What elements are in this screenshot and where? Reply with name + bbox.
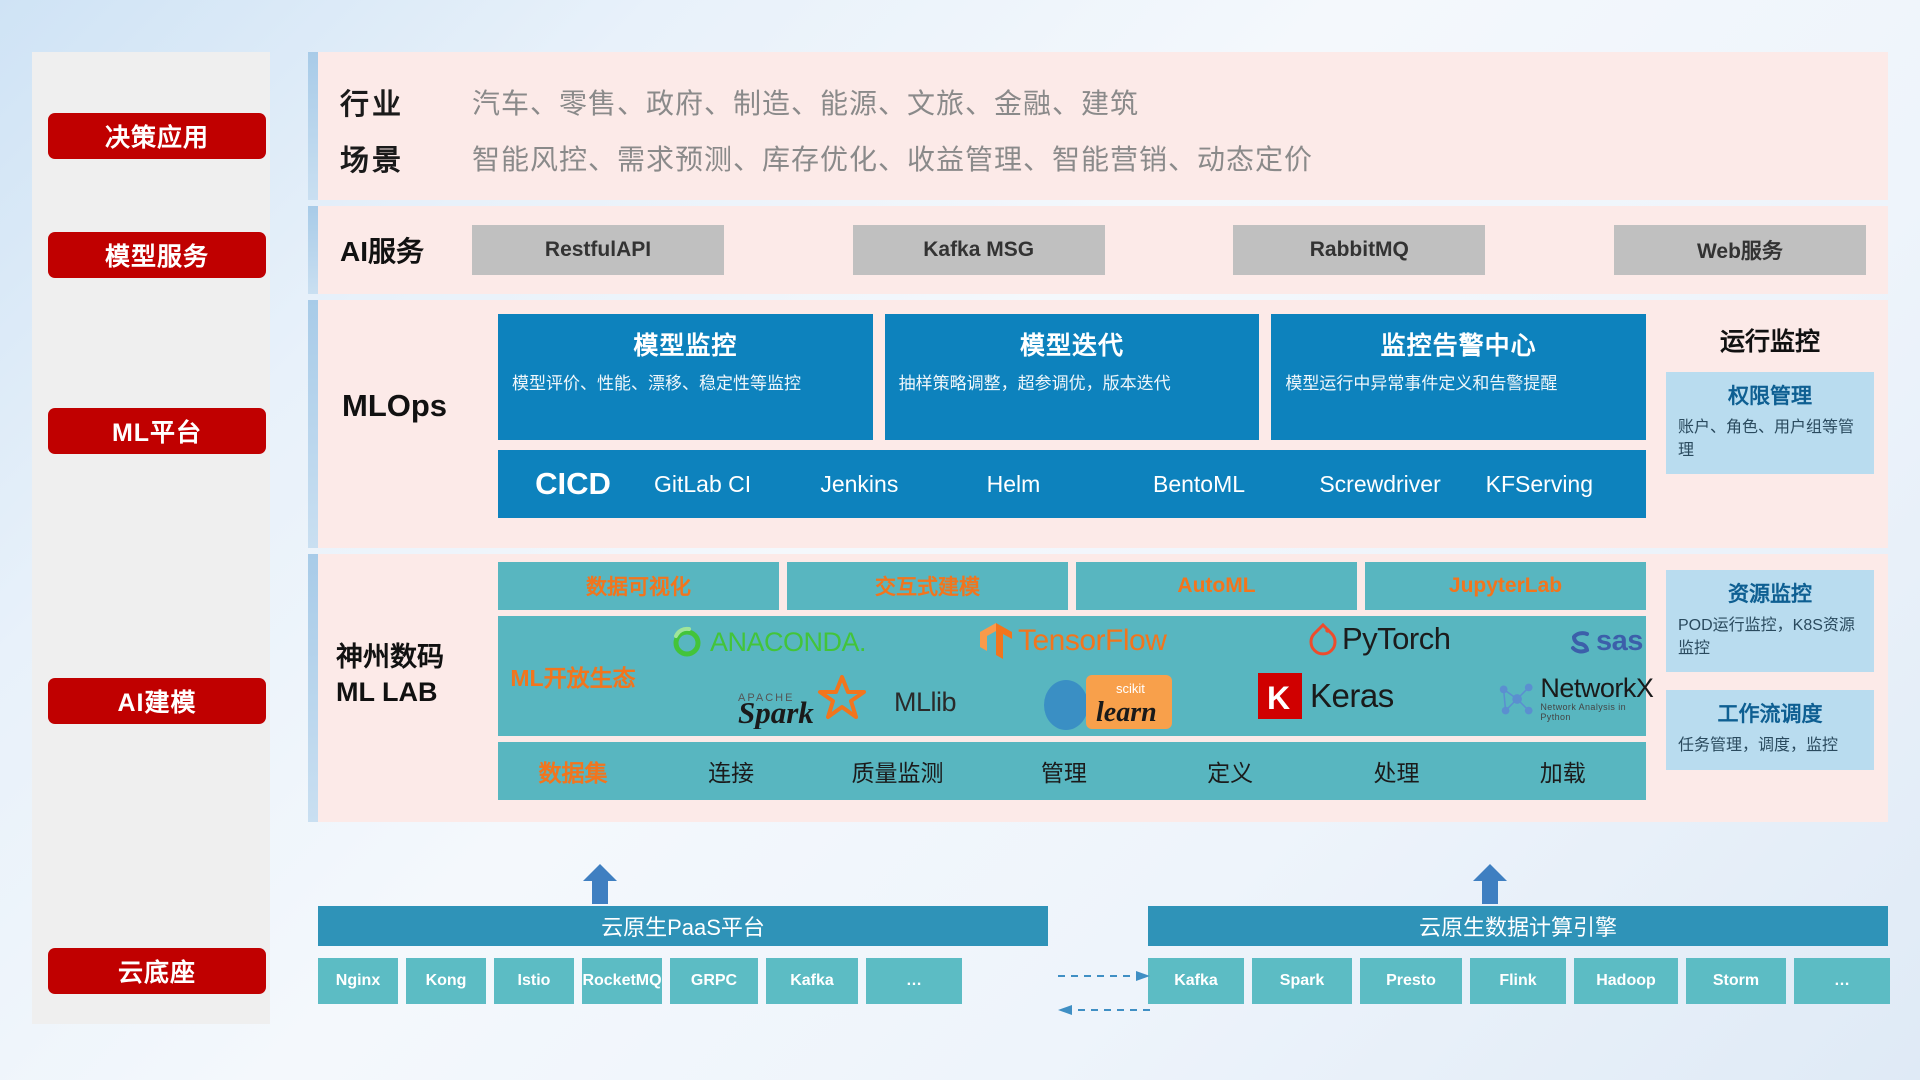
ml-lab-key-line1: 神州数码: [336, 640, 496, 675]
industry-key: 行业: [340, 81, 472, 123]
mlops-band: MLOps 模型监控 模型评价、性能、漂移、稳定性等监控 模型迭代 抽样策略调整…: [308, 300, 1888, 548]
dataset-item-process[interactable]: 处理: [1313, 754, 1479, 788]
cicd-item-gitlab-ci[interactable]: GitLab CI: [648, 472, 814, 497]
chip-rocketmq[interactable]: RocketMQ: [582, 958, 662, 1004]
pytorch-label: PyTorch: [1342, 621, 1450, 657]
data-engine-chip-list: Kafka Spark Presto Flink Hadoop Storm …: [1148, 958, 1890, 1004]
tab-automl[interactable]: AutoML: [1076, 562, 1357, 610]
paas-chip-list: Nginx Kong Istio RocketMQ GRPC Kafka …: [318, 958, 962, 1004]
mlops-card-model-iteration[interactable]: 模型迭代 抽样策略调整，超参调优，版本迭代: [885, 314, 1260, 440]
sas-logo: sas: [1564, 625, 1643, 658]
cicd-title: CICD: [498, 466, 648, 502]
card-desc: 模型运行中异常事件定义和告警提醒: [1285, 372, 1632, 397]
stage-label-text: ML平台: [112, 413, 202, 449]
ml-lab-key-line2: ML LAB: [336, 675, 496, 710]
tab-jupyterlab[interactable]: JupyterLab: [1365, 562, 1646, 610]
ai-service-box-web-service[interactable]: Web服务: [1614, 225, 1866, 275]
card-title: 模型迭代: [899, 326, 1246, 362]
ai-service-box-rabbitmq[interactable]: RabbitMQ: [1233, 225, 1485, 275]
card-title: 工作流调度: [1678, 698, 1862, 728]
band-left-accent: [308, 206, 318, 294]
networkx-icon: [1494, 677, 1536, 721]
chip-more[interactable]: …: [866, 958, 962, 1004]
left-label-column: [32, 52, 270, 1024]
dataset-item-load[interactable]: 加载: [1480, 754, 1646, 788]
card-desc: 账户、角色、用户组等管理: [1678, 416, 1862, 462]
card-desc: 模型评价、性能、漂移、稳定性等监控: [512, 372, 859, 397]
industry-row: 行业 汽车、零售、政府、制造、能源、文旅、金融、建筑: [308, 74, 1888, 130]
spark-mllib-logo: APACHE Spark MLlib: [738, 675, 956, 729]
stage-label-ai-modeling: AI建模: [48, 678, 266, 724]
stage-label-model-service: 模型服务: [48, 232, 266, 278]
cicd-items: GitLab CI Jenkins Helm BentoML Screwdriv…: [648, 472, 1646, 497]
main-column: 行业 汽车、零售、政府、制造、能源、文旅、金融、建筑 场景 智能风控、需求预测、…: [308, 52, 1888, 822]
networkx-label: NetworkX: [1540, 675, 1655, 702]
anaconda-label: ANACONDA.: [710, 627, 866, 658]
dataset-item-quality-monitor[interactable]: 质量监测: [814, 754, 980, 788]
card-title: 权限管理: [1678, 380, 1862, 410]
stage-label-ml-platform: ML平台: [48, 408, 266, 454]
bidirectional-dashed-connector: [1056, 962, 1152, 1032]
mlops-key: MLOps: [342, 388, 482, 424]
ml-lab-key: 神州数码 ML LAB: [336, 640, 496, 709]
card-desc: 抽样策略调整，超参调优，版本迭代: [899, 372, 1246, 397]
card-title: 监控告警中心: [1285, 326, 1632, 362]
chip-nginx[interactable]: Nginx: [318, 958, 398, 1004]
keras-icon: K: [1258, 673, 1302, 719]
ml-lab-band: 神州数码 ML LAB 数据可视化 交互式建模 AutoML JupyterLa…: [308, 554, 1888, 822]
ml-ecosystem-logos: ANACONDA. TensorFlow: [648, 617, 1646, 735]
stage-label-text: 云底座: [118, 953, 196, 989]
cicd-item-jenkins[interactable]: Jenkins: [814, 472, 980, 497]
ai-service-box-restfulapi[interactable]: RestfulAPI: [472, 225, 724, 275]
svg-text:Spark: Spark: [738, 695, 814, 729]
dataset-label: 数据集: [498, 754, 648, 788]
scikit-learn-icon: scikit learn: [1040, 673, 1190, 731]
monitor-card-workflow[interactable]: 工作流调度 任务管理，调度，监控: [1666, 690, 1874, 769]
scikit-learn-logo: scikit learn: [1040, 673, 1190, 731]
keras-label: Keras: [1310, 677, 1394, 715]
stage-label-decision-app: 决策应用: [48, 113, 266, 159]
stage-label-cloud-base: 云底座: [48, 948, 266, 994]
monitor-card-resource[interactable]: 资源监控 POD运行监控，K8S资源监控: [1666, 570, 1874, 672]
chip-grpc[interactable]: GRPC: [670, 958, 758, 1004]
ai-service-box-kafka-msg[interactable]: Kafka MSG: [853, 225, 1105, 275]
tab-interactive-modeling[interactable]: 交互式建模: [787, 562, 1068, 610]
ml-lab-tabs: 数据可视化 交互式建模 AutoML JupyterLab: [498, 562, 1660, 610]
chip-kafka[interactable]: Kafka: [766, 958, 858, 1004]
scenario-key: 场景: [340, 137, 472, 179]
cicd-item-bentoml[interactable]: BentoML: [1147, 472, 1313, 497]
cicd-item-helm[interactable]: Helm: [981, 472, 1147, 497]
card-desc: POD运行监控，K8S资源监控: [1678, 614, 1862, 660]
monitor-column-bottom: 资源监控 POD运行监控，K8S资源监控 工作流调度 任务管理，调度，监控: [1660, 554, 1888, 822]
pytorch-logo: PyTorch: [1308, 621, 1450, 657]
chip-flink[interactable]: Flink: [1470, 958, 1566, 1004]
svg-text:K: K: [1267, 680, 1290, 716]
tensorflow-logo: TensorFlow: [978, 621, 1166, 661]
keras-logo: K Keras: [1258, 673, 1394, 719]
cicd-item-screwdriver[interactable]: Screwdriver: [1313, 472, 1479, 497]
ml-lab-body: 神州数码 ML LAB 数据可视化 交互式建模 AutoML JupyterLa…: [308, 554, 1660, 822]
diagram-canvas: 决策应用 模型服务 ML平台 AI建模 云底座 行业 汽车、零售、政府、制造、能…: [0, 0, 1920, 1080]
card-desc: 任务管理，调度，监控: [1678, 734, 1862, 757]
card-title: 资源监控: [1678, 578, 1862, 608]
dataset-item-manage[interactable]: 管理: [981, 754, 1147, 788]
band-left-accent: [308, 554, 318, 822]
arrow-up-data-engine-icon: [1473, 864, 1507, 904]
dataset-row: 数据集 连接 质量监测 管理 定义 处理 加载: [498, 742, 1646, 800]
monitor-column-top: 运行监控 权限管理 账户、角色、用户组等管理: [1660, 300, 1888, 548]
mlops-cards: 模型监控 模型评价、性能、漂移、稳定性等监控 模型迭代 抽样策略调整，超参调优，…: [498, 314, 1660, 440]
mlops-card-model-monitoring[interactable]: 模型监控 模型评价、性能、漂移、稳定性等监控: [498, 314, 873, 440]
monitor-card-permission[interactable]: 权限管理 账户、角色、用户组等管理: [1666, 372, 1874, 474]
spark-icon: APACHE Spark: [738, 675, 888, 729]
stage-label-text: 决策应用: [105, 118, 209, 154]
paas-platform-bar[interactable]: 云原生PaaS平台: [318, 906, 1048, 946]
sas-icon: [1564, 627, 1594, 657]
mlops-card-alert-center[interactable]: 监控告警中心 模型运行中异常事件定义和告警提醒: [1271, 314, 1646, 440]
chip-spark[interactable]: Spark: [1252, 958, 1352, 1004]
chip-kong[interactable]: Kong: [406, 958, 486, 1004]
ai-service-boxes: RestfulAPI Kafka MSG RabbitMQ Web服务: [472, 225, 1888, 275]
ai-service-band: AI服务 RestfulAPI Kafka MSG RabbitMQ Web服务: [308, 206, 1888, 294]
monitor-title: 运行监控: [1666, 322, 1874, 358]
chip-presto[interactable]: Presto: [1360, 958, 1462, 1004]
chip-hadoop[interactable]: Hadoop: [1574, 958, 1678, 1004]
industry-value: 汽车、零售、政府、制造、能源、文旅、金融、建筑: [472, 82, 1139, 122]
ml-ecosystem-label: ML开放生态: [498, 659, 648, 693]
tab-data-visualization[interactable]: 数据可视化: [498, 562, 779, 610]
chip-kafka-right[interactable]: Kafka: [1148, 958, 1244, 1004]
anaconda-icon: [670, 625, 704, 659]
arrow-up-paas-icon: [583, 864, 617, 904]
cicd-item-kfserving[interactable]: KFServing: [1480, 472, 1646, 497]
chip-more-right[interactable]: …: [1794, 958, 1890, 1004]
mlops-body: MLOps 模型监控 模型评价、性能、漂移、稳定性等监控 模型迭代 抽样策略调整…: [308, 300, 1660, 548]
networkx-logo: NetworkX Network Analysis in Python: [1494, 675, 1655, 722]
stage-label-text: AI建模: [117, 683, 196, 719]
tensorflow-label: TensorFlow: [1018, 624, 1166, 658]
band-left-accent: [308, 52, 318, 200]
ai-service-key: AI服务: [340, 230, 472, 270]
chip-storm[interactable]: Storm: [1686, 958, 1786, 1004]
industry-scenario-band: 行业 汽车、零售、政府、制造、能源、文旅、金融、建筑 场景 智能风控、需求预测、…: [308, 52, 1888, 200]
dataset-item-define[interactable]: 定义: [1147, 754, 1313, 788]
stage-label-text: 模型服务: [105, 237, 209, 273]
scenario-value: 智能风控、需求预测、库存优化、收益管理、智能营销、动态定价: [472, 138, 1313, 178]
tensorflow-icon: [978, 621, 1014, 661]
card-title: 模型监控: [512, 326, 859, 362]
networkx-sublabel: Network Analysis in Python: [1540, 702, 1655, 722]
anaconda-logo: ANACONDA.: [670, 625, 866, 659]
mllib-label: MLlib: [894, 687, 956, 718]
chip-istio[interactable]: Istio: [494, 958, 574, 1004]
data-compute-engine-bar[interactable]: 云原生数据计算引擎: [1148, 906, 1888, 946]
dataset-item-connect[interactable]: 连接: [648, 754, 814, 788]
svg-text:learn: learn: [1096, 697, 1157, 728]
pytorch-icon: [1308, 622, 1338, 656]
scenario-row: 场景 智能风控、需求预测、库存优化、收益管理、智能营销、动态定价: [308, 130, 1888, 186]
cloud-base-section: 云原生PaaS平台 云原生数据计算引擎 Nginx Kong Istio Roc…: [308, 884, 1888, 1024]
ml-ecosystem-row: ML开放生态 ANACONDA.: [498, 616, 1646, 736]
cicd-row: CICD GitLab CI Jenkins Helm BentoML Scre…: [498, 450, 1646, 518]
svg-text:scikit: scikit: [1116, 681, 1145, 696]
sas-label: sas: [1596, 625, 1643, 658]
band-left-accent: [308, 300, 318, 548]
